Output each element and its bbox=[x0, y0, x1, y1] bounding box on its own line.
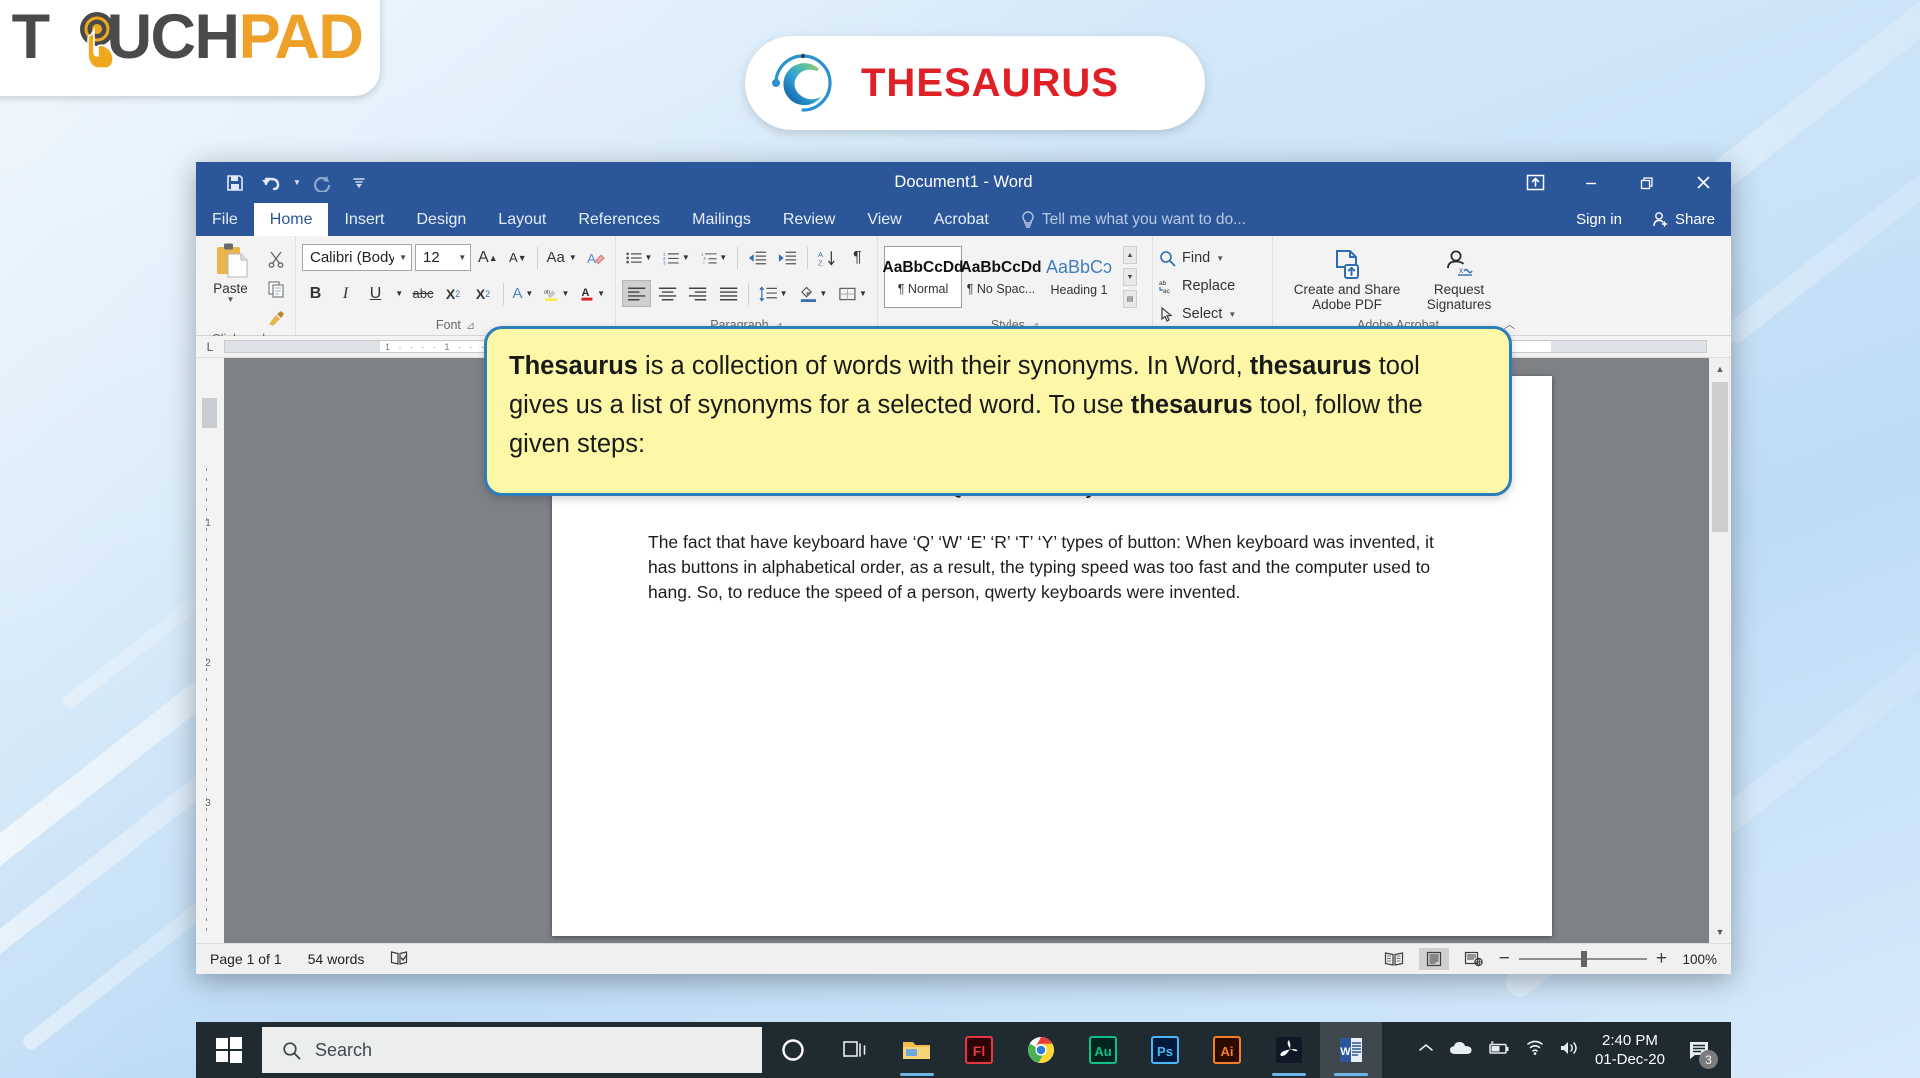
ribbon-home: Paste ▼ Clipboard ⊿ bbox=[196, 236, 1731, 336]
windows-taskbar: Search Fl Au Ps bbox=[196, 1022, 1731, 1078]
svg-text:Ps: Ps bbox=[1157, 1044, 1173, 1059]
document-title: Document1 - Word bbox=[196, 173, 1731, 192]
styles-gallery-scroll: ▲ ▼ ▤ bbox=[1123, 246, 1137, 308]
svg-text:A: A bbox=[582, 287, 590, 299]
sign-in-button[interactable]: Sign in bbox=[1562, 203, 1636, 236]
create-and-share-pdf-button[interactable]: Create and Share Adobe PDF bbox=[1292, 248, 1402, 312]
shrink-font-button[interactable]: A▼ bbox=[504, 244, 531, 271]
replace-button[interactable]: abac Replace bbox=[1159, 273, 1266, 299]
callout-bold-2: thesaurus bbox=[1250, 352, 1372, 380]
font-size-combo[interactable]: 12 ▼ bbox=[415, 244, 471, 271]
adobe-acrobat-icon[interactable] bbox=[1258, 1022, 1320, 1078]
scroll-down-icon[interactable]: ▼ bbox=[1709, 921, 1731, 943]
touchpad-wordmark: T UCH PAD bbox=[12, 6, 363, 69]
tell-me-search[interactable]: Tell me what you want to do... bbox=[1005, 203, 1246, 236]
start-icon[interactable] bbox=[196, 1022, 262, 1078]
tab-mailings[interactable]: Mailings bbox=[676, 203, 767, 236]
word-application-window: ▼ Document1 - Word File H bbox=[196, 162, 1731, 974]
taskbar-app-icons: Fl Au Ps Ai W bbox=[762, 1022, 1382, 1078]
close-button[interactable] bbox=[1675, 162, 1731, 203]
bold-button[interactable]: B bbox=[302, 280, 329, 307]
zoom-track[interactable] bbox=[1519, 958, 1647, 960]
paste-dropdown-icon[interactable]: ▼ bbox=[227, 296, 235, 304]
customize-qat-icon[interactable] bbox=[342, 168, 376, 198]
copy-icon bbox=[267, 280, 285, 298]
callout-text-1: is a collection of words with their syno… bbox=[638, 352, 1250, 380]
share-button[interactable]: Share bbox=[1636, 203, 1731, 236]
share-person-icon bbox=[1652, 211, 1669, 228]
redo-icon[interactable] bbox=[306, 168, 340, 198]
system-tray: 2:40 PM 01-Dec-20 3 bbox=[1417, 1022, 1731, 1078]
search-icon bbox=[282, 1041, 301, 1060]
status-bar-right: − + 100% bbox=[1379, 948, 1717, 970]
font-name-combo[interactable]: Calibri (Body) ▼ bbox=[302, 244, 412, 271]
increase-indent-icon bbox=[778, 250, 797, 266]
zoom-out-button[interactable]: − bbox=[1499, 948, 1510, 970]
minimize-button[interactable] bbox=[1563, 162, 1619, 203]
shading-button[interactable]: ▼ bbox=[795, 280, 832, 307]
align-center-icon bbox=[658, 286, 677, 302]
align-right-icon bbox=[688, 286, 707, 302]
notification-count-badge: 3 bbox=[1699, 1050, 1718, 1069]
title-bar: ▼ Document1 - Word bbox=[196, 162, 1731, 203]
clear-formatting-icon: A bbox=[586, 248, 605, 268]
multilevel-list-icon: 1ai bbox=[701, 250, 717, 266]
battery-icon[interactable] bbox=[1487, 1041, 1511, 1060]
touch-hand-icon bbox=[72, 10, 128, 70]
tab-file[interactable]: File bbox=[196, 203, 254, 236]
tab-acrobat[interactable]: Acrobat bbox=[918, 203, 1005, 236]
callout-text: Thesaurus is a collection of words with … bbox=[509, 347, 1481, 463]
style-normal-label: ¶ Normal bbox=[898, 282, 948, 296]
svg-text:ac: ac bbox=[1163, 288, 1171, 295]
svg-text:A: A bbox=[587, 250, 596, 265]
clear-formatting-button[interactable]: A bbox=[582, 244, 609, 271]
styles-gallery: AaBbCcDd ¶ Normal AaBbCcDd ¶ No Spac... … bbox=[884, 246, 1118, 308]
vertical-ruler[interactable]: 1 2 3 bbox=[196, 358, 224, 943]
tab-review[interactable]: Review bbox=[767, 203, 851, 236]
style-no-spacing-label: ¶ No Spac... bbox=[967, 282, 1036, 296]
replace-icon: abac bbox=[1159, 278, 1176, 295]
bullets-button[interactable]: ▼ bbox=[622, 244, 656, 271]
document-paragraph: The fact that have keyboard have ‘Q’ ‘W’… bbox=[648, 530, 1456, 605]
ribbon-tab-bar: File Home Insert Design Layout Reference… bbox=[196, 203, 1731, 236]
ribbon-group-adobe-acrobat: Create and Share Adobe PDF x Request Sig… bbox=[1273, 236, 1523, 335]
underline-button[interactable]: U bbox=[362, 280, 389, 307]
style-normal[interactable]: AaBbCcDd ¶ Normal bbox=[884, 246, 962, 308]
thesaurus-swirl-icon bbox=[767, 47, 839, 119]
read-mode-icon[interactable] bbox=[1379, 948, 1409, 970]
find-label: Find bbox=[1182, 250, 1210, 266]
page-indicator[interactable]: Page 1 of 1 bbox=[210, 951, 282, 967]
show-hidden-icons[interactable] bbox=[1417, 1041, 1435, 1060]
quick-access-toolbar: ▼ bbox=[196, 168, 376, 198]
line-spacing-button[interactable]: ▼ bbox=[755, 280, 792, 307]
request-signature-icon: x bbox=[1442, 248, 1476, 282]
tab-insert[interactable]: Insert bbox=[328, 203, 400, 236]
style-normal-preview: AaBbCcDd bbox=[883, 259, 964, 277]
notifications-icon[interactable]: 3 bbox=[1679, 1022, 1721, 1078]
vruler-mark-1: 1 bbox=[200, 518, 216, 529]
vertical-scrollbar[interactable]: ▲ ▼ bbox=[1709, 358, 1731, 943]
font-dialog-launcher[interactable]: ⊿ bbox=[466, 319, 475, 332]
increase-indent-button[interactable] bbox=[774, 244, 801, 271]
thesaurus-title-pill: THESAURUS bbox=[745, 36, 1205, 130]
ribbon-group-font: Calibri (Body) ▼ 12 ▼ A▲ A▼ Aa▼ A B bbox=[296, 236, 616, 335]
web-layout-icon[interactable] bbox=[1459, 948, 1489, 970]
borders-icon bbox=[838, 286, 857, 302]
adobe-flash-icon[interactable]: Fl bbox=[948, 1022, 1010, 1078]
line-spacing-icon bbox=[759, 286, 778, 302]
svg-text:W: W bbox=[1340, 1046, 1351, 1058]
styles-scroll-down-icon[interactable]: ▼ bbox=[1123, 268, 1137, 286]
ribbon-display-options-icon[interactable] bbox=[1507, 162, 1563, 203]
scrollbar-thumb[interactable] bbox=[1712, 382, 1728, 532]
svg-text:Au: Au bbox=[1094, 1044, 1111, 1059]
request-signatures-button[interactable]: x Request Signatures bbox=[1414, 248, 1504, 312]
replace-label: Replace bbox=[1182, 278, 1235, 294]
select-icon bbox=[1159, 306, 1176, 323]
font-color-button[interactable]: A ▼ bbox=[576, 280, 609, 307]
numbered-list-icon: 123 bbox=[663, 250, 679, 266]
text-effects-button[interactable]: A▼ bbox=[509, 280, 536, 307]
sort-button[interactable]: AZ bbox=[814, 244, 841, 271]
vruler-mark-2: 2 bbox=[200, 658, 216, 669]
multilevel-list-button[interactable]: 1ai ▼ bbox=[697, 244, 731, 271]
paste-label: Paste bbox=[213, 281, 248, 296]
tab-stop-selector[interactable]: L bbox=[196, 340, 224, 354]
cut-button[interactable] bbox=[262, 245, 289, 272]
numbering-button[interactable]: 123 ▼ bbox=[659, 244, 693, 271]
lightbulb-icon bbox=[1021, 211, 1035, 229]
share-label: Share bbox=[1675, 211, 1715, 228]
undo-dropdown-icon[interactable]: ▼ bbox=[290, 168, 304, 198]
google-chrome-icon[interactable] bbox=[1010, 1022, 1072, 1078]
taskbar-clock[interactable]: 2:40 PM 01-Dec-20 bbox=[1595, 1031, 1665, 1070]
clock-time: 2:40 PM bbox=[1595, 1031, 1665, 1051]
superscript-button[interactable]: X2 bbox=[470, 280, 497, 307]
find-button[interactable]: Find ▼ bbox=[1159, 245, 1266, 271]
cortana-icon[interactable] bbox=[762, 1022, 824, 1078]
word-count[interactable]: 54 words bbox=[308, 951, 365, 967]
svg-text:Z: Z bbox=[818, 258, 823, 266]
callout-bold-3: thesaurus bbox=[1131, 391, 1253, 419]
justify-button[interactable] bbox=[715, 280, 742, 307]
select-button[interactable]: Select ▼ bbox=[1159, 301, 1266, 327]
ribbon-group-paragraph: ▼ 123 ▼ 1ai ▼ AZ bbox=[616, 236, 878, 335]
text-highlight-button[interactable]: ab ▼ bbox=[539, 280, 573, 307]
file-explorer-icon[interactable] bbox=[886, 1022, 948, 1078]
highlight-icon: ab bbox=[543, 283, 559, 305]
search-placeholder: Search bbox=[315, 1040, 372, 1061]
style-no-spacing-preview: AaBbCcDd bbox=[961, 259, 1042, 277]
adobe-illustrator-icon[interactable]: Ai bbox=[1196, 1022, 1258, 1078]
tell-me-placeholder: Tell me what you want to do... bbox=[1042, 211, 1246, 229]
zoom-thumb[interactable] bbox=[1581, 951, 1587, 967]
thesaurus-callout: Thesaurus is a collection of words with … bbox=[484, 326, 1512, 496]
touchpad-logo-card: T UCH PAD bbox=[0, 0, 380, 96]
vruler-mark-3: 3 bbox=[200, 798, 216, 809]
create-pdf-icon bbox=[1330, 248, 1364, 282]
bullet-list-icon bbox=[626, 250, 642, 266]
svg-text:3: 3 bbox=[663, 260, 666, 265]
format-painter-icon bbox=[267, 310, 285, 328]
onedrive-icon[interactable] bbox=[1449, 1040, 1473, 1061]
subscript-button[interactable]: X2 bbox=[440, 280, 467, 307]
strikethrough-button[interactable]: abc bbox=[410, 280, 437, 307]
style-heading-1[interactable]: AaBbCɔ Heading 1 bbox=[1040, 246, 1118, 308]
search-input[interactable]: Search bbox=[262, 1027, 762, 1073]
undo-icon[interactable] bbox=[254, 168, 288, 198]
font-color-icon: A bbox=[580, 283, 595, 305]
scroll-up-icon[interactable]: ▲ bbox=[1709, 358, 1731, 380]
style-heading-1-preview: AaBbCɔ bbox=[1046, 257, 1112, 278]
svg-text:Ai: Ai bbox=[1221, 1044, 1234, 1059]
decrease-indent-icon bbox=[748, 250, 767, 266]
svg-text:ab: ab bbox=[1159, 280, 1167, 287]
scissors-icon bbox=[267, 250, 285, 268]
volume-icon[interactable] bbox=[1559, 1040, 1581, 1061]
style-no-spacing[interactable]: AaBbCcDd ¶ No Spac... bbox=[962, 246, 1040, 308]
window-controls bbox=[1507, 162, 1731, 203]
task-view-icon[interactable] bbox=[824, 1022, 886, 1078]
format-painter-button[interactable] bbox=[262, 305, 289, 332]
copy-button[interactable] bbox=[262, 275, 289, 302]
font-name-value: Calibri (Body) bbox=[310, 249, 394, 266]
style-heading-1-label: Heading 1 bbox=[1051, 283, 1108, 297]
ribbon-group-editing: Find ▼ abac Replace Select ▼ Editing bbox=[1153, 236, 1273, 335]
ribbon-group-clipboard: Paste ▼ Clipboard ⊿ bbox=[196, 236, 296, 335]
shading-icon bbox=[799, 285, 818, 303]
underline-dropdown-icon[interactable]: ▼ bbox=[392, 280, 407, 307]
wifi-icon[interactable] bbox=[1525, 1040, 1545, 1061]
decrease-indent-button[interactable] bbox=[744, 244, 771, 271]
italic-button[interactable]: I bbox=[332, 280, 359, 307]
sort-az-icon: AZ bbox=[818, 249, 837, 267]
status-bar: Page 1 of 1 54 words − + 100% bbox=[196, 943, 1731, 974]
font-name-caret-icon[interactable]: ▼ bbox=[394, 253, 407, 262]
svg-text:Fl: Fl bbox=[973, 1043, 985, 1059]
restore-button[interactable] bbox=[1619, 162, 1675, 203]
touchpad-letter-t: T bbox=[12, 6, 49, 69]
styles-more-icon[interactable]: ▤ bbox=[1123, 290, 1137, 308]
proofing-errors-icon[interactable] bbox=[390, 950, 409, 969]
tab-view[interactable]: View bbox=[851, 203, 917, 236]
align-center-button[interactable] bbox=[654, 280, 681, 307]
font-size-value: 12 bbox=[423, 249, 440, 266]
tab-references[interactable]: References bbox=[562, 203, 676, 236]
callout-bold-1: Thesaurus bbox=[509, 352, 638, 380]
paste-button[interactable]: Paste ▼ bbox=[202, 242, 259, 304]
zoom-slider[interactable]: − + bbox=[1499, 948, 1667, 970]
change-case-button[interactable]: Aa▼ bbox=[544, 244, 579, 271]
create-and-share-pdf-label: Create and Share Adobe PDF bbox=[1292, 282, 1402, 312]
select-label: Select bbox=[1182, 306, 1222, 322]
paste-icon bbox=[213, 242, 249, 280]
zoom-level[interactable]: 100% bbox=[1677, 952, 1717, 967]
thesaurus-title-text: THESAURUS bbox=[861, 61, 1119, 106]
tab-layout[interactable]: Layout bbox=[482, 203, 562, 236]
align-left-button[interactable] bbox=[622, 280, 651, 307]
save-icon[interactable] bbox=[218, 168, 252, 198]
search-icon bbox=[1159, 250, 1176, 267]
ribbon-group-styles: AaBbCcDd ¶ Normal AaBbCcDd ¶ No Spac... … bbox=[878, 236, 1153, 335]
svg-text:i: i bbox=[703, 259, 704, 264]
styles-scroll-up-icon[interactable]: ▲ bbox=[1123, 246, 1137, 264]
grow-font-button[interactable]: A▲ bbox=[474, 244, 501, 271]
adobe-audition-icon[interactable]: Au bbox=[1072, 1022, 1134, 1078]
tab-design[interactable]: Design bbox=[400, 203, 482, 236]
borders-button[interactable]: ▼ bbox=[834, 280, 871, 307]
show-formatting-marks-button[interactable]: ¶ bbox=[844, 244, 871, 271]
microsoft-word-icon[interactable]: W bbox=[1320, 1022, 1382, 1078]
svg-text:x: x bbox=[1459, 266, 1463, 275]
justify-icon bbox=[719, 286, 738, 302]
print-layout-icon[interactable] bbox=[1419, 948, 1449, 970]
align-right-button[interactable] bbox=[684, 280, 711, 307]
align-left-icon bbox=[627, 286, 646, 302]
zoom-in-button[interactable]: + bbox=[1656, 948, 1667, 970]
clock-date: 01-Dec-20 bbox=[1595, 1050, 1665, 1070]
touchpad-letters-pad: PAD bbox=[239, 6, 363, 69]
request-signatures-label: Request Signatures bbox=[1414, 282, 1504, 312]
adobe-photoshop-icon[interactable]: Ps bbox=[1134, 1022, 1196, 1078]
font-size-caret-icon[interactable]: ▼ bbox=[453, 253, 466, 262]
tab-home[interactable]: Home bbox=[254, 203, 329, 236]
